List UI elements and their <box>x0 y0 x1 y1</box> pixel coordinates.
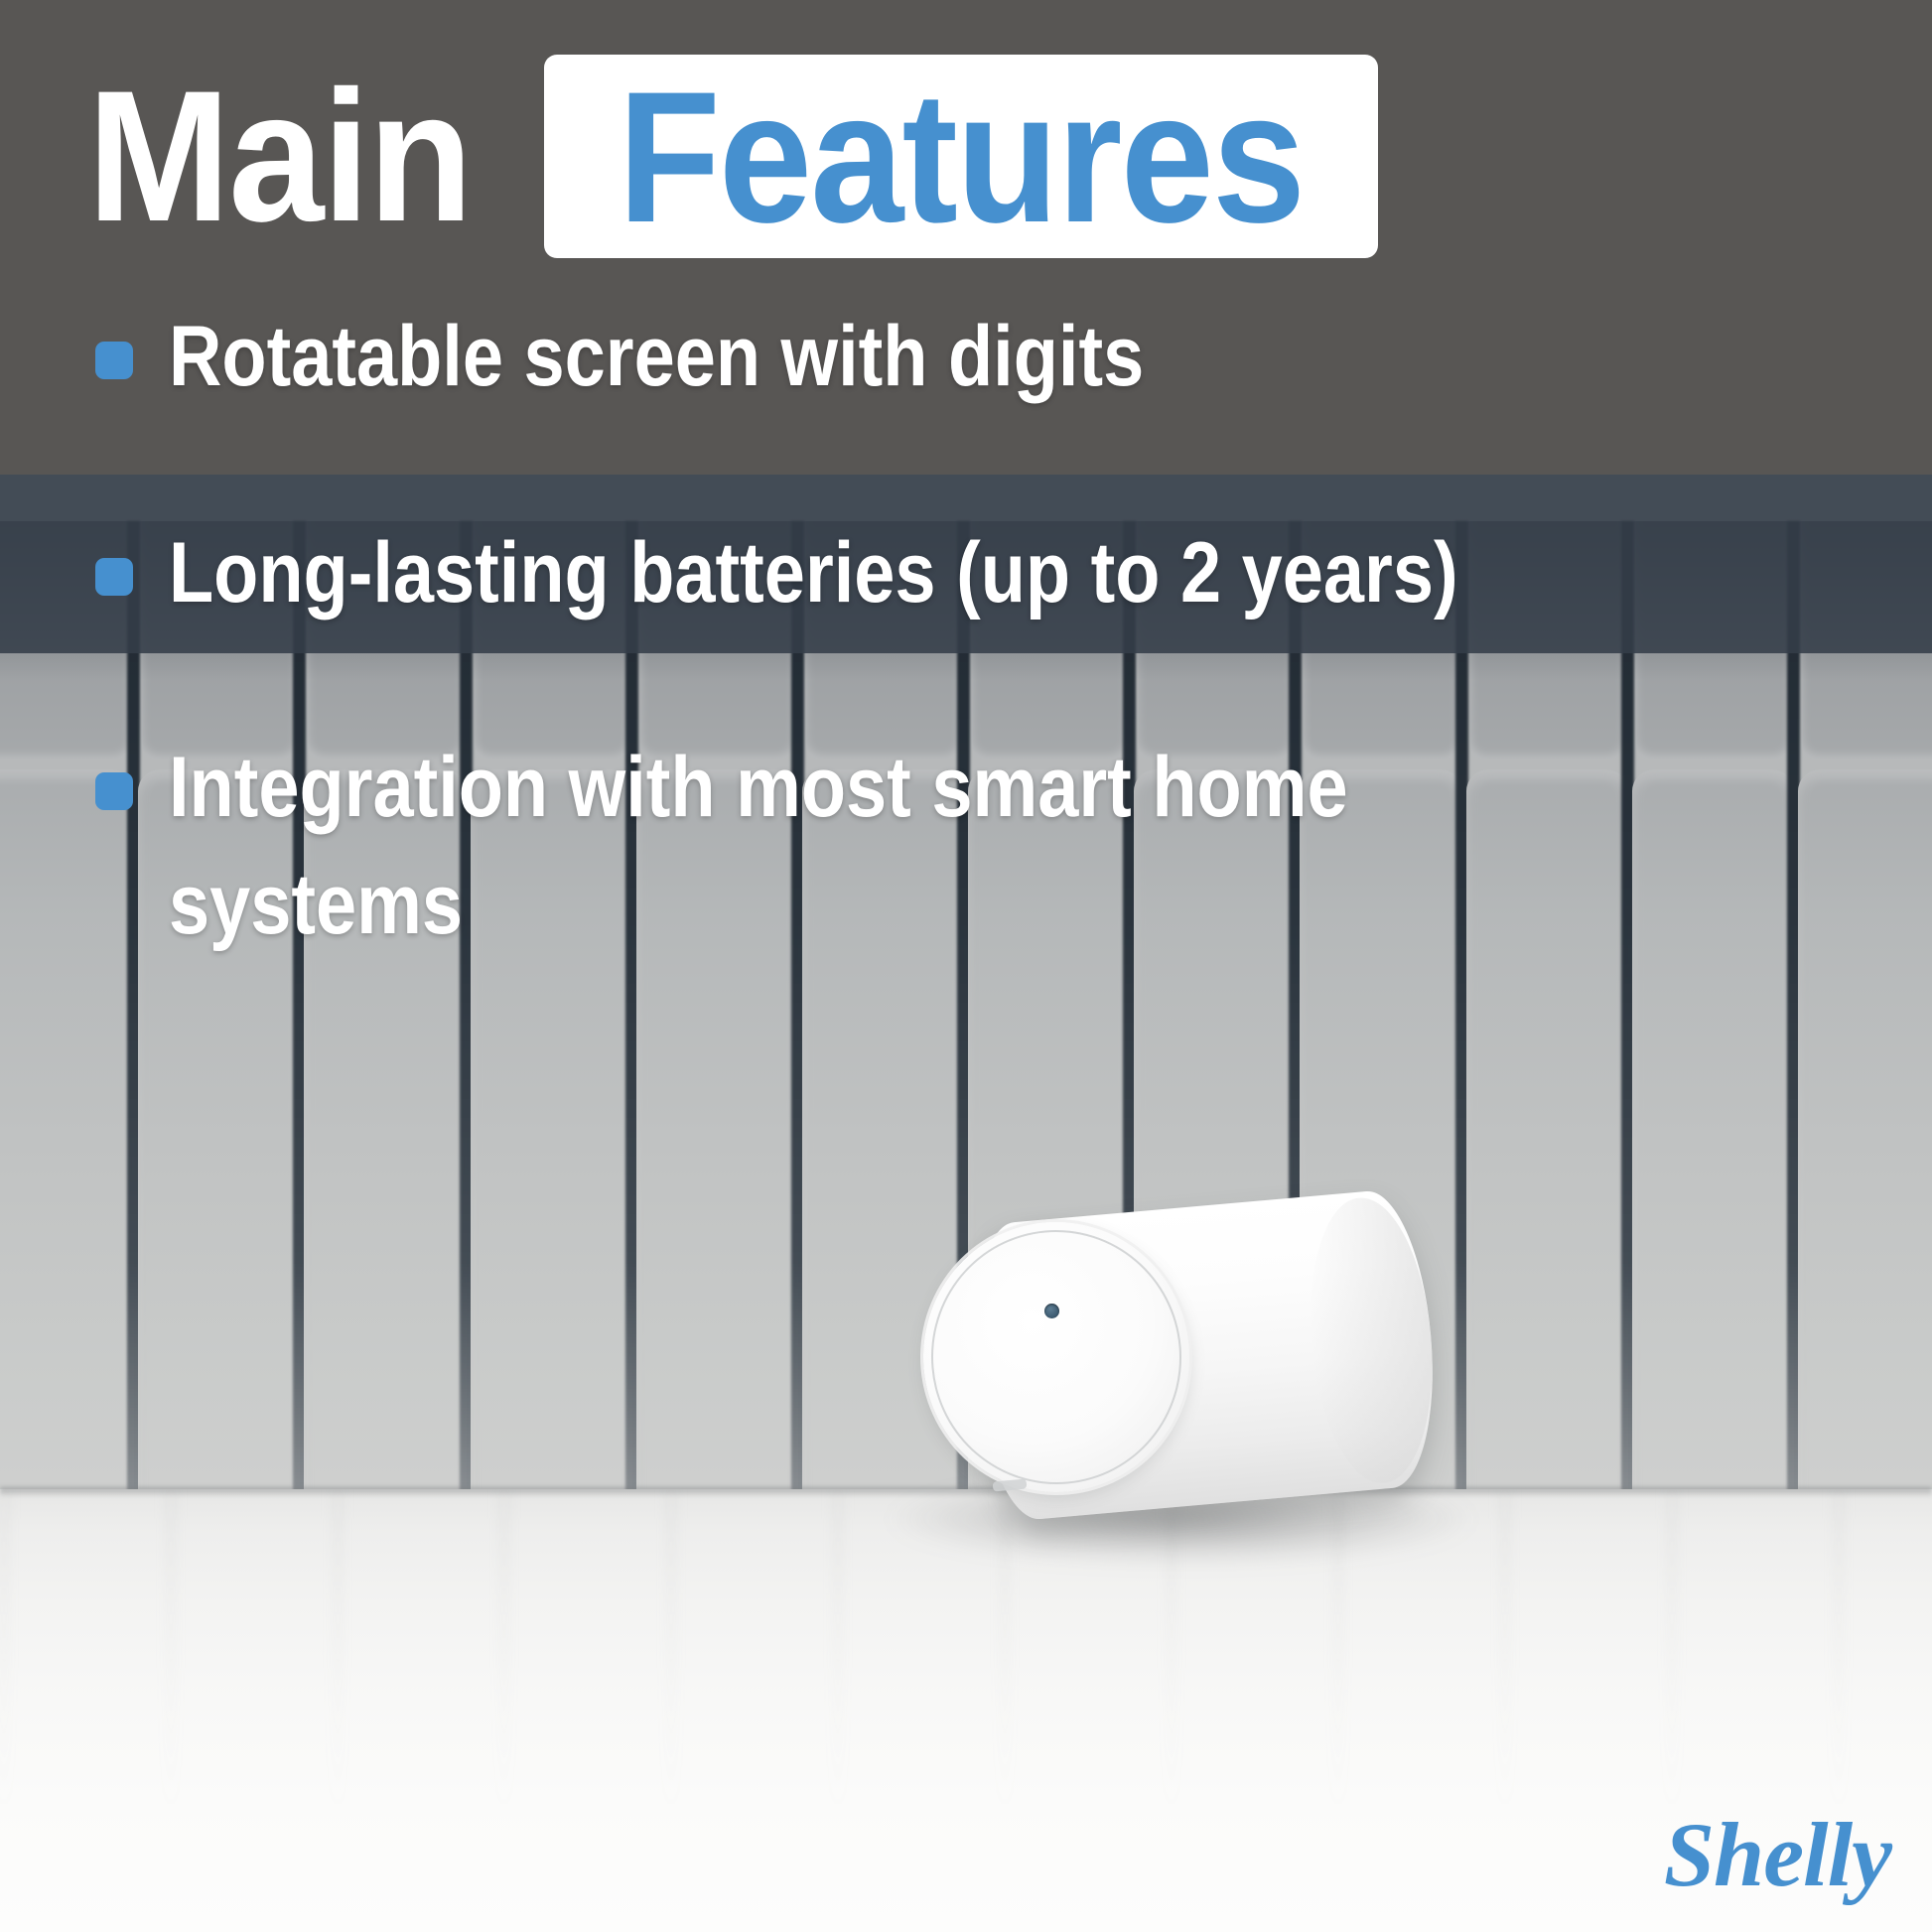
page-title: Main Features <box>87 55 1378 258</box>
feature-label: Integration with most smart home systems <box>169 729 1348 963</box>
bullet-square-icon <box>95 772 133 810</box>
feature-list-item: Long-lasting batteries (up to 2 years) <box>95 514 1892 631</box>
feature-list-item: Integration with most smart home systems <box>95 729 1892 963</box>
bullet-square-icon <box>95 558 133 596</box>
feature-list-item: Rotatable screen with digits <box>95 298 1892 415</box>
title-accent-chip: Features <box>544 55 1378 258</box>
title-accent-word: Features <box>619 58 1305 256</box>
feature-label: Long-lasting batteries (up to 2 years) <box>169 514 1458 631</box>
product-device <box>923 1206 1440 1534</box>
feature-label: Rotatable screen with digits <box>169 298 1144 415</box>
bullet-square-icon <box>95 342 133 379</box>
feature-list: Rotatable screen with digits Long-lastin… <box>95 298 1892 963</box>
brand-logo-wordmark: Shelly <box>1664 1809 1891 1900</box>
status-led-icon <box>1044 1304 1059 1318</box>
promo-graphic: Main Features Rotatable screen with digi… <box>0 0 1932 1932</box>
brand-logo: Shelly <box>1593 1805 1891 1904</box>
title-primary-word: Main <box>87 55 472 258</box>
